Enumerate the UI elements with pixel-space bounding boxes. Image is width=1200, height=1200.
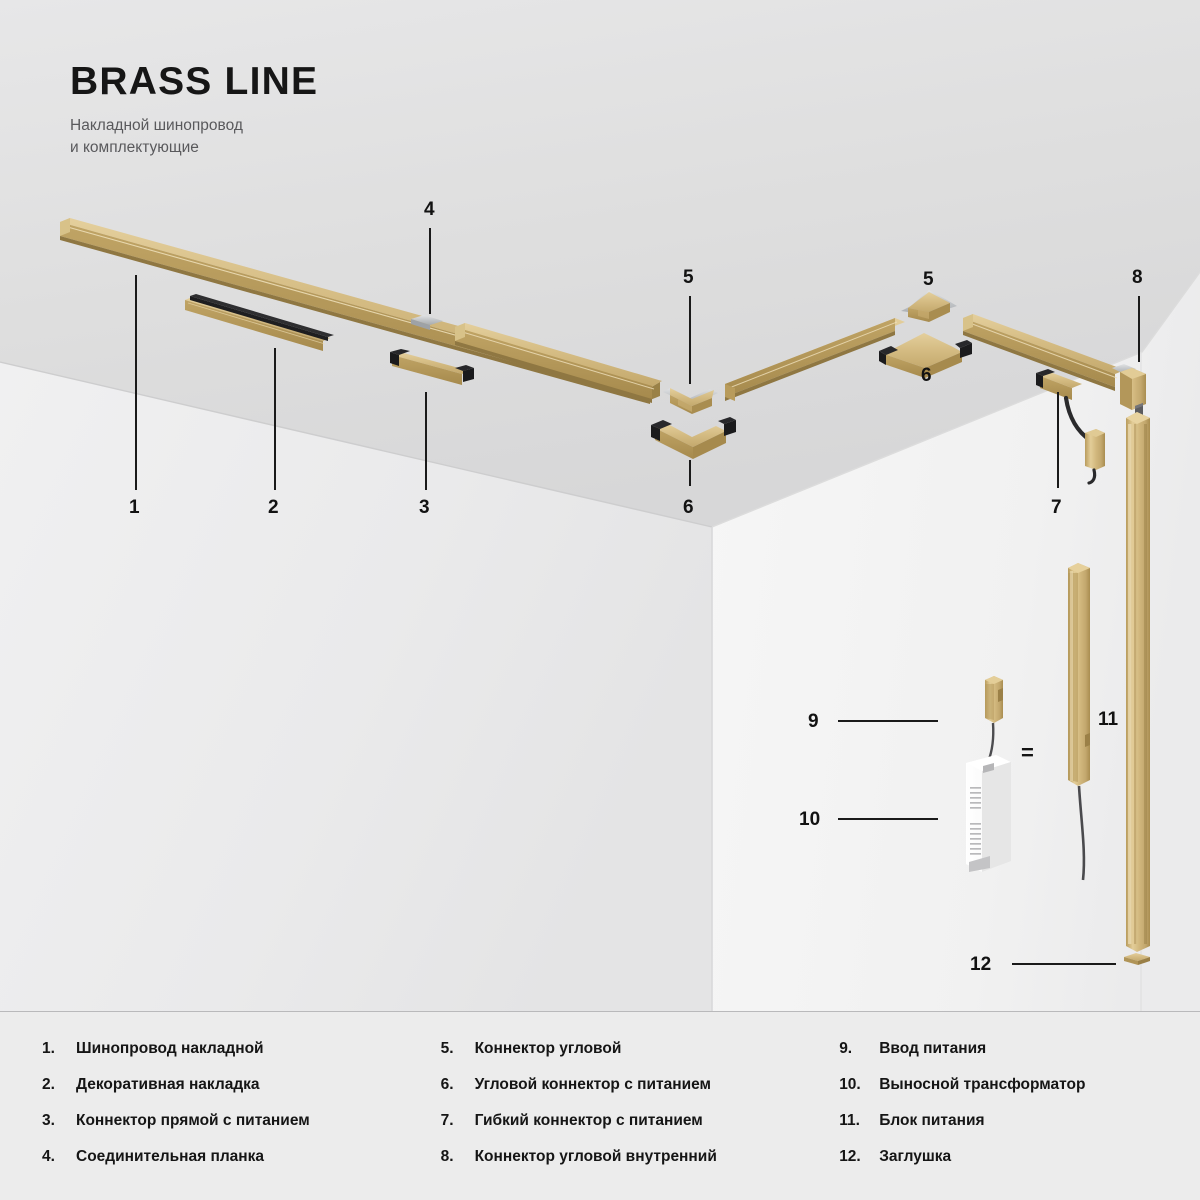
legend-item-number: 9. xyxy=(839,1040,879,1058)
page-subtitle: Накладной шинопровод и комплектующие xyxy=(70,115,318,160)
legend-item-label: Соединительная планка xyxy=(76,1148,264,1166)
callout-5b-number: 5 xyxy=(923,270,934,289)
legend-column-3: 9. Ввод питания 10. Выносной трансформат… xyxy=(839,1040,1160,1200)
legend-item: 4. Соединительная планка xyxy=(42,1148,441,1184)
callout-12-leader-line xyxy=(1012,963,1116,965)
legend: 1. Шинопровод накладной 2. Декоративная … xyxy=(0,1012,1200,1200)
legend-item-label: Выносной трансформатор xyxy=(879,1076,1085,1094)
legend-item: 12. Заглушка xyxy=(839,1148,1160,1184)
legend-item-label: Декоративная накладка xyxy=(76,1076,260,1094)
page-subtitle-line-2: и комплектующие xyxy=(70,137,318,159)
legend-column-2: 5. Коннектор угловой 6. Угловой коннекто… xyxy=(441,1040,840,1200)
callout-7-number: 7 xyxy=(1051,498,1062,517)
legend-item-label: Коннектор угловой внутренний xyxy=(475,1148,717,1166)
legend-item-number: 6. xyxy=(441,1076,475,1094)
page-header: BRASS LINE Накладной шинопровод и компле… xyxy=(70,62,318,160)
legend-item-label: Гибкий коннектор с питанием xyxy=(475,1112,703,1130)
callout-2-number: 2 xyxy=(268,498,279,517)
legend-item: 9. Ввод питания xyxy=(839,1040,1160,1076)
legend-item-label: Блок питания xyxy=(879,1112,984,1130)
legend-item: 6. Угловой коннектор с питанием xyxy=(441,1076,840,1112)
legend-item-label: Коннектор прямой с питанием xyxy=(76,1112,310,1130)
callout-6a-leader-line xyxy=(689,460,691,486)
legend-item-number: 7. xyxy=(441,1112,475,1130)
page-subtitle-line-1: Накладной шинопровод xyxy=(70,115,318,137)
callout-11-number: 11 xyxy=(1098,710,1118,729)
legend-item-label: Ввод питания xyxy=(879,1040,986,1058)
legend-item: 10. Выносной трансформатор xyxy=(839,1076,1160,1112)
equals-symbol: = xyxy=(1021,742,1034,764)
callout-12-number: 12 xyxy=(970,955,991,974)
legend-item: 5. Коннектор угловой xyxy=(441,1040,840,1076)
legend-item-number: 11. xyxy=(839,1112,879,1130)
legend-item: 3. Коннектор прямой с питанием xyxy=(42,1112,441,1148)
legend-item: 8. Коннектор угловой внутренний xyxy=(441,1148,840,1184)
callout-10-number: 10 xyxy=(799,810,820,829)
callout-5a-number: 5 xyxy=(683,268,694,287)
legend-item-label: Шинопровод накладной xyxy=(76,1040,264,1058)
callout-7-leader-line xyxy=(1057,392,1059,488)
legend-item-number: 12. xyxy=(839,1148,879,1166)
callout-4-number: 4 xyxy=(424,200,435,219)
callout-3-number: 3 xyxy=(419,498,430,517)
callout-3-leader-line xyxy=(425,392,427,490)
callout-9-number: 9 xyxy=(808,712,819,731)
callout-1-leader-line xyxy=(135,275,137,490)
callout-8-number: 8 xyxy=(1132,268,1143,287)
legend-item-number: 2. xyxy=(42,1076,76,1094)
legend-item: 7. Гибкий коннектор с питанием xyxy=(441,1112,840,1148)
legend-item-number: 1. xyxy=(42,1040,76,1058)
legend-item-label: Угловой коннектор с питанием xyxy=(475,1076,711,1094)
legend-item: 11. Блок питания xyxy=(839,1112,1160,1148)
legend-item-number: 10. xyxy=(839,1076,879,1094)
callout-8-leader-line xyxy=(1138,296,1140,362)
legend-item-number: 8. xyxy=(441,1148,475,1166)
legend-column-1: 1. Шинопровод накладной 2. Декоративная … xyxy=(42,1040,441,1200)
legend-item-label: Заглушка xyxy=(879,1148,951,1166)
legend-item: 1. Шинопровод накладной xyxy=(42,1040,441,1076)
legend-item-number: 5. xyxy=(441,1040,475,1058)
legend-item-label: Коннектор угловой xyxy=(475,1040,622,1058)
wall-track-vertical xyxy=(1126,412,1150,952)
legend-item-number: 4. xyxy=(42,1148,76,1166)
callout-4-leader-line xyxy=(429,228,431,314)
callout-5a-leader-line xyxy=(689,296,691,384)
callout-1-number: 1 xyxy=(129,498,140,517)
part-10-remote-transformer xyxy=(966,755,1011,872)
product-overview-page: BRASS LINE Накладной шинопровод и компле… xyxy=(0,0,1200,1200)
callout-6b-number: 6 xyxy=(921,366,932,385)
callout-6a-number: 6 xyxy=(683,498,694,517)
callout-9-leader-line xyxy=(838,720,938,722)
legend-item-number: 3. xyxy=(42,1112,76,1130)
callout-10-leader-line xyxy=(838,818,938,820)
callout-2-leader-line xyxy=(274,348,276,490)
legend-item: 2. Декоративная накладка xyxy=(42,1076,441,1112)
page-title: BRASS LINE xyxy=(70,62,318,101)
